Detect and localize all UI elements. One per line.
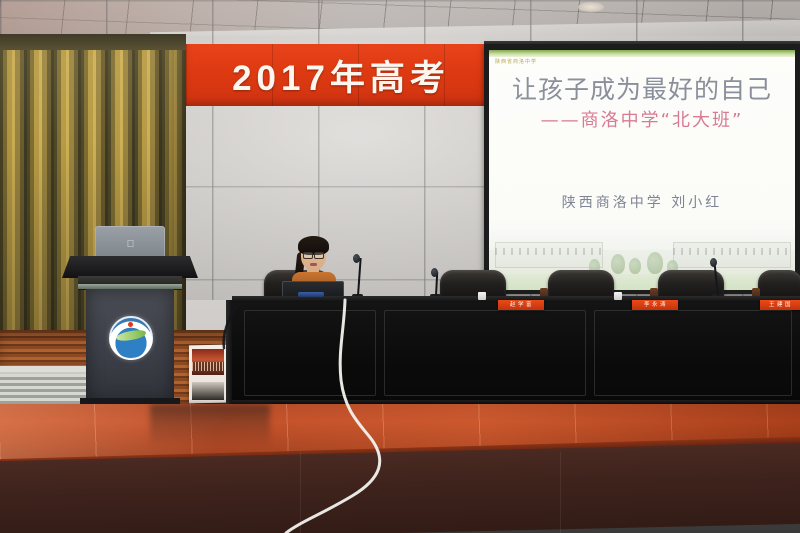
water-cup [614,292,622,300]
nameplate: 李 永 涛 [632,300,678,310]
table-panel [594,310,792,396]
apple-logo-icon:  [126,240,135,250]
slide-presenter-line: 陕西商洛中学 刘小红 [489,192,795,212]
podium-reflection [150,404,270,448]
auditorium-photo: 2017年高考 经验 陕西省商洛中学 让孩子成为最好的自己 ——商洛中学“北大班… [0,0,800,533]
speaker-glasses-right [314,252,324,259]
display-board-lower [192,382,224,400]
desk-cable [298,292,324,297]
crest-center-dot [128,322,133,327]
table-panel [384,310,586,396]
slide-subtitle: ——商洛中学“北大班” [489,106,795,132]
speaker-glasses-bridge [312,254,315,255]
stage-front-seam [300,452,301,533]
slide-header-bar [489,50,795,57]
photo-tree [647,252,663,274]
slide-campus-photo [489,224,795,290]
photo-windows-right [673,248,791,255]
stage-front-seam [560,452,561,533]
slide-header-text: 陕西省商洛中学 [495,58,537,65]
photo-tree [611,254,625,274]
display-board-crowd [192,362,224,371]
microphone-head-icon [431,268,438,277]
projection-screen: 陕西省商洛中学 让孩子成为最好的自己 ——商洛中学“北大班” 陕西商洛中学 刘小… [489,50,795,290]
nameplate-label: 李 永 涛 [632,300,678,310]
nameplate: 赵 学 富 [498,300,544,310]
banner-title-text: 2017年高考 [196,48,486,102]
photo-windows-left [495,248,603,255]
photo-ground [489,274,795,290]
photo-building-right [673,242,791,268]
speaker-mouth [310,263,317,266]
photo-building-left [495,242,603,268]
photo-tree [629,258,641,274]
table-panel [244,310,376,396]
nameplate-label: 王 建 国 [760,300,800,310]
podium-top [62,256,198,278]
slide-title: 让孩子成为最好的自己 [489,70,795,106]
nameplate: 王 建 国 [760,300,800,310]
microphone-head-icon [710,258,717,267]
nameplate-label: 赵 学 富 [498,300,544,310]
microphone-head-icon [353,254,360,263]
water-cup [478,292,486,300]
